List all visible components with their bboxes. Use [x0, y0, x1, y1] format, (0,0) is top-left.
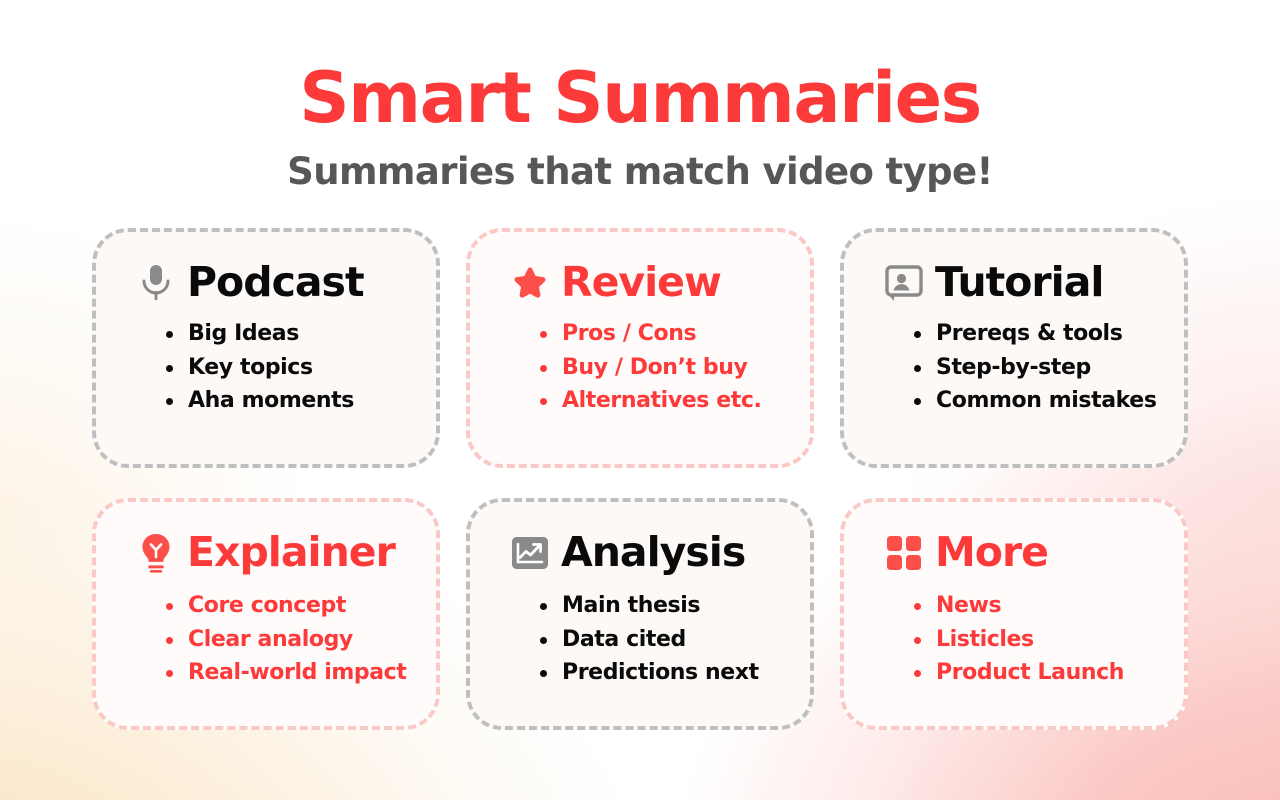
card-more[interactable]: More News Listicles Product Launch [840, 498, 1188, 730]
card-bullets-more: News Listicles Product Launch [870, 589, 1158, 690]
card-analysis[interactable]: Analysis Main thesis Data cited Predicti… [466, 498, 814, 730]
list-item: Prereqs & tools [914, 317, 1158, 351]
page-subtitle: Summaries that match video type! [0, 152, 1280, 193]
card-title-podcast: Podcast [187, 262, 364, 303]
list-item: News [914, 589, 1158, 623]
card-title-review: Review [561, 262, 721, 303]
card-header-review: Review [496, 262, 784, 303]
list-item: Common mistakes [914, 384, 1158, 418]
list-item: Alternatives etc. [540, 384, 784, 418]
list-item: Buy / Don’t buy [540, 351, 784, 385]
card-bullets-review: Pros / Cons Buy / Don’t buy Alternatives… [496, 317, 784, 418]
card-title-tutorial: Tutorial [935, 262, 1103, 303]
card-bullets-tutorial: Prereqs & tools Step-by-step Common mist… [870, 317, 1158, 418]
microphone-icon [136, 263, 176, 303]
card-bullets-podcast: Big Ideas Key topics Aha moments [122, 317, 410, 418]
card-grid: Podcast Big Ideas Key topics Aha moments… [0, 228, 1280, 730]
card-header-analysis: Analysis [496, 532, 784, 573]
infographic-canvas: Smart Summaries Summaries that match vid… [0, 0, 1280, 800]
card-tutorial[interactable]: Tutorial Prereqs & tools Step-by-step Co… [840, 228, 1188, 468]
card-bullets-explainer: Core concept Clear analogy Real-world im… [122, 589, 410, 690]
card-title-explainer: Explainer [187, 532, 395, 573]
lightbulb-icon [136, 533, 176, 573]
card-title-analysis: Analysis [561, 532, 745, 573]
list-item: Real-world impact [166, 656, 410, 690]
list-item: Main thesis [540, 589, 784, 623]
grid-squares-icon [884, 533, 924, 573]
header: Smart Summaries Summaries that match vid… [0, 0, 1280, 192]
card-explainer[interactable]: Explainer Core concept Clear analogy Rea… [92, 498, 440, 730]
list-item: Key topics [166, 351, 410, 385]
list-item: Step-by-step [914, 351, 1158, 385]
list-item: Aha moments [166, 384, 410, 418]
page-title: Smart Summaries [0, 62, 1280, 136]
list-item: Core concept [166, 589, 410, 623]
card-title-more: More [935, 532, 1048, 573]
chart-trending-up-icon [510, 533, 550, 573]
card-header-more: More [870, 532, 1158, 573]
card-bullets-analysis: Main thesis Data cited Predictions next [496, 589, 784, 690]
list-item: Big Ideas [166, 317, 410, 351]
card-header-podcast: Podcast [122, 262, 410, 303]
list-item: Pros / Cons [540, 317, 784, 351]
presentation-person-icon [884, 263, 924, 303]
list-item: Product Launch [914, 656, 1158, 690]
card-review[interactable]: Review Pros / Cons Buy / Don’t buy Alter… [466, 228, 814, 468]
list-item: Listicles [914, 623, 1158, 657]
list-item: Predictions next [540, 656, 784, 690]
card-header-tutorial: Tutorial [870, 262, 1158, 303]
list-item: Clear analogy [166, 623, 410, 657]
card-podcast[interactable]: Podcast Big Ideas Key topics Aha moments [92, 228, 440, 468]
card-header-explainer: Explainer [122, 532, 410, 573]
star-icon [510, 263, 550, 303]
list-item: Data cited [540, 623, 784, 657]
